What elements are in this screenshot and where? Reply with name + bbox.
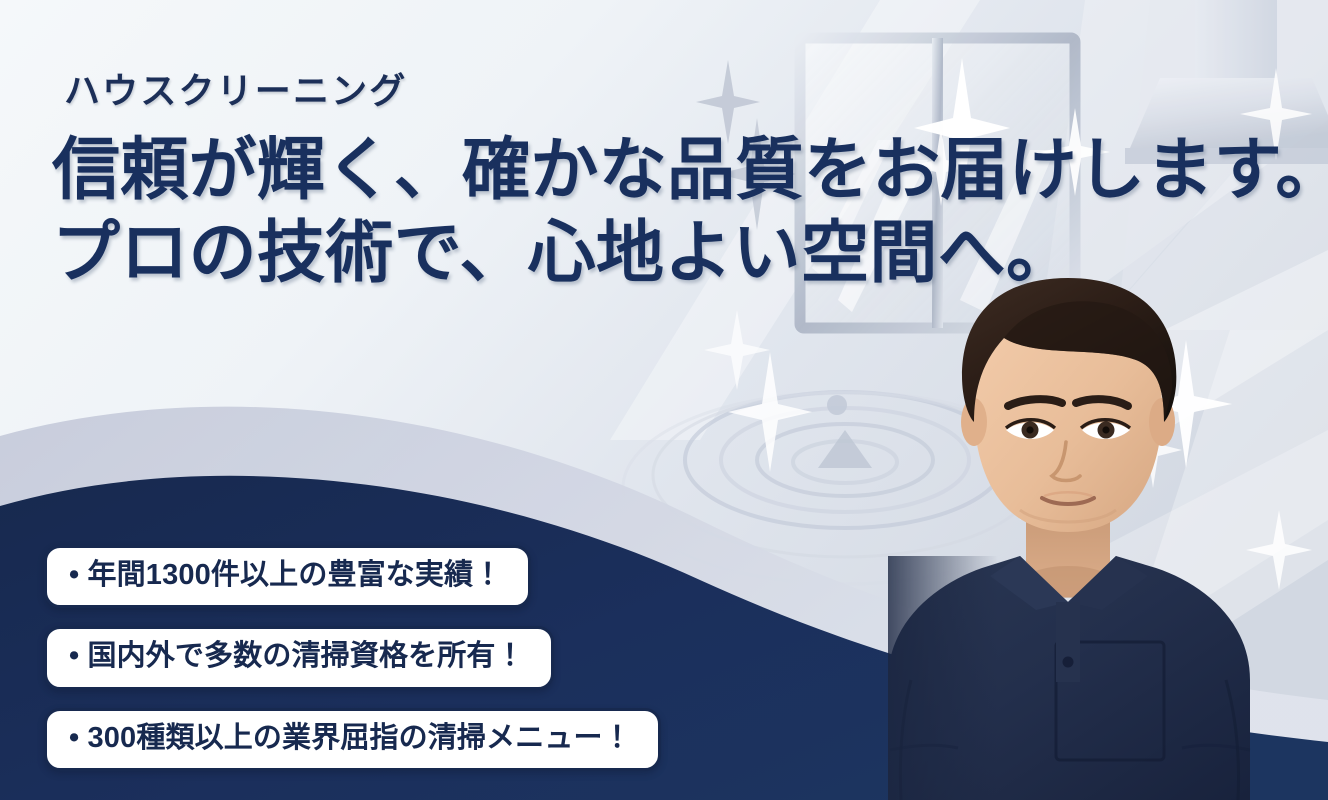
staff-portrait-illustration: [768, 210, 1328, 800]
feature-pill-certifications: • 国内外で多数の清掃資格を所有！: [44, 626, 554, 689]
feature-pill-annual-jobs: • 年間1300件以上の豊富な実績！: [44, 545, 531, 608]
headline: 信頼が輝く、確かな品質をお届けします。 プロの技術で、心地よい空間へ。: [52, 134, 1282, 291]
headline-line-2: プロの技術で、心地よい空間へ。: [52, 217, 1282, 290]
hero-banner: ハウスクリーニング 信頼が輝く、確かな品質をお届けします。 プロの技術で、心地よ…: [0, 0, 1328, 800]
staff-portrait: [768, 210, 1328, 800]
feature-pill-menu-variety: • 300種類以上の業界屈指の清掃メニュー！: [44, 708, 661, 771]
feature-pill-list: • 年間1300件以上の豊富な実績！ • 国内外で多数の清掃資格を所有！ • 3…: [44, 545, 661, 771]
headline-line-1: 信頼が輝く、確かな品質をお届けします。: [52, 134, 1282, 207]
polo-button: [1063, 657, 1074, 668]
service-category-label: ハウスクリーニング: [64, 62, 407, 114]
